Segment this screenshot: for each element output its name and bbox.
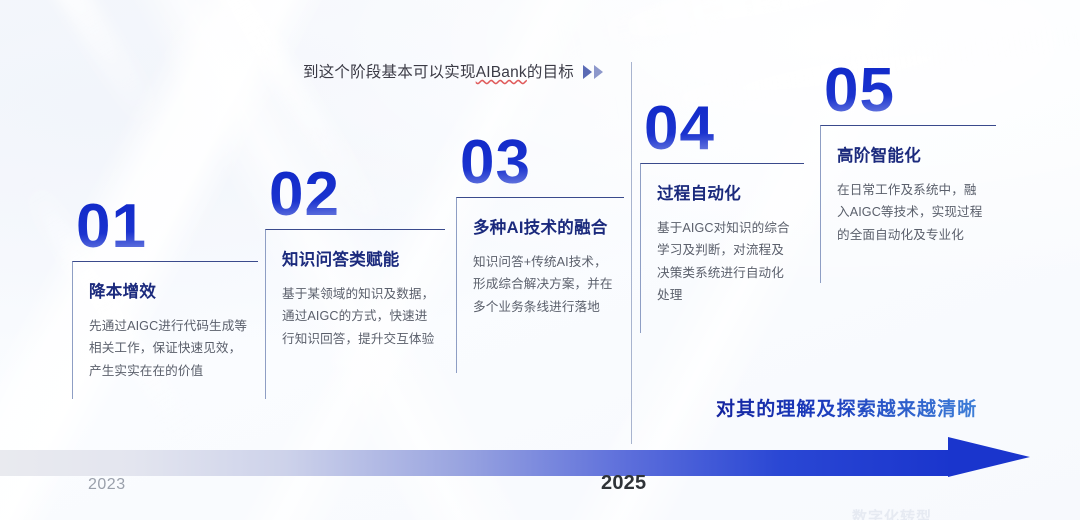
step-body-01: 先通过AIGC进行代码生成等相关工作，保证快速见效，产生实实在在的价值 — [89, 315, 248, 382]
connector-line-step-04 — [631, 62, 632, 444]
step-title-02: 知识问答类赋能 — [282, 246, 435, 270]
step-card-02: 知识问答类赋能 基于某领域的知识及数据，通过AIGC的方式，快速进行知识回答，提… — [265, 229, 445, 399]
timeline-year-start: 2023 — [88, 476, 126, 494]
step-03[interactable]: 03 多种AI技术的融合 知识问答+传统AI技术，形成综合解决方案，并在多个业务… — [456, 134, 624, 373]
step-card-03: 多种AI技术的融合 知识问答+传统AI技术，形成综合解决方案，并在多个业务条线进… — [456, 197, 624, 373]
step-number-01: 01 — [76, 198, 258, 255]
annotation-chevrons — [583, 65, 603, 79]
step-body-03: 知识问答+传统AI技术，形成综合解决方案，并在多个业务条线进行落地 — [473, 251, 614, 318]
timeline-axis — [0, 444, 1080, 484]
stage-goal-annotation: 到这个阶段基本可以实现AIBank的目标 — [303, 60, 603, 82]
step-card-01: 降本增效 先通过AIGC进行代码生成等相关工作，保证快速见效，产生实实在在的价值 — [72, 261, 258, 399]
step-title-03: 多种AI技术的融合 — [473, 214, 614, 238]
chevron-right-icon — [583, 65, 592, 79]
step-body-02: 基于某领域的知识及数据，通过AIGC的方式，快速进行知识回答，提升交互体验 — [282, 283, 435, 350]
step-title-05: 高阶智能化 — [837, 142, 986, 166]
background-sheen-1 — [0, 0, 168, 136]
step-02[interactable]: 02 知识问答类赋能 基于某领域的知识及数据，通过AIGC的方式，快速进行知识回… — [265, 166, 445, 399]
step-04[interactable]: 04 过程自动化 基于AIGC对知识的综合学习及判断，对流程及决策类系统进行自动… — [640, 100, 804, 333]
annotation-text: 到这个阶段基本可以实现AIBank的目标 — [303, 60, 574, 82]
step-number-05: 05 — [824, 62, 996, 119]
annotation-text-after: 的目标 — [527, 64, 574, 81]
step-body-05: 在日常工作及系统中，融入AIGC等技术，实现过程的全面自动化及专业化 — [837, 179, 986, 246]
bottom-watermark: 数字化转型 — [852, 506, 932, 520]
chevron-right-icon — [594, 65, 603, 79]
step-number-03: 03 — [460, 134, 624, 191]
annotation-text-before: 到这个阶段基本可以实现 — [303, 64, 476, 81]
step-card-04: 过程自动化 基于AIGC对知识的综合学习及判断，对流程及决策类系统进行自动化处理 — [640, 163, 804, 333]
step-number-04: 04 — [644, 100, 804, 157]
step-05[interactable]: 05 高阶智能化 在日常工作及系统中，融入AIGC等技术，实现过程的全面自动化及… — [820, 62, 996, 283]
annotation-text-highlight: AIBank — [476, 64, 527, 81]
step-title-01: 降本增效 — [89, 278, 248, 302]
step-card-05: 高阶智能化 在日常工作及系统中，融入AIGC等技术，实现过程的全面自动化及专业化 — [820, 125, 996, 283]
insight-caption: 对其的理解及探索越来越清晰 — [716, 394, 977, 421]
slide-canvas: 到这个阶段基本可以实现AIBank的目标 01 降本增效 先通过AIGC进行代码… — [0, 0, 1080, 520]
step-number-02: 02 — [269, 166, 445, 223]
timeline-year-mid: 2025 — [601, 472, 646, 495]
timeline-bar — [0, 450, 952, 476]
background-sheen-3 — [562, 0, 1078, 58]
step-01[interactable]: 01 降本增效 先通过AIGC进行代码生成等相关工作，保证快速见效，产生实实在在… — [72, 198, 258, 399]
step-body-04: 基于AIGC对知识的综合学习及判断，对流程及决策类系统进行自动化处理 — [657, 217, 794, 307]
arrow-right-icon — [948, 437, 1030, 477]
step-title-04: 过程自动化 — [657, 180, 794, 204]
